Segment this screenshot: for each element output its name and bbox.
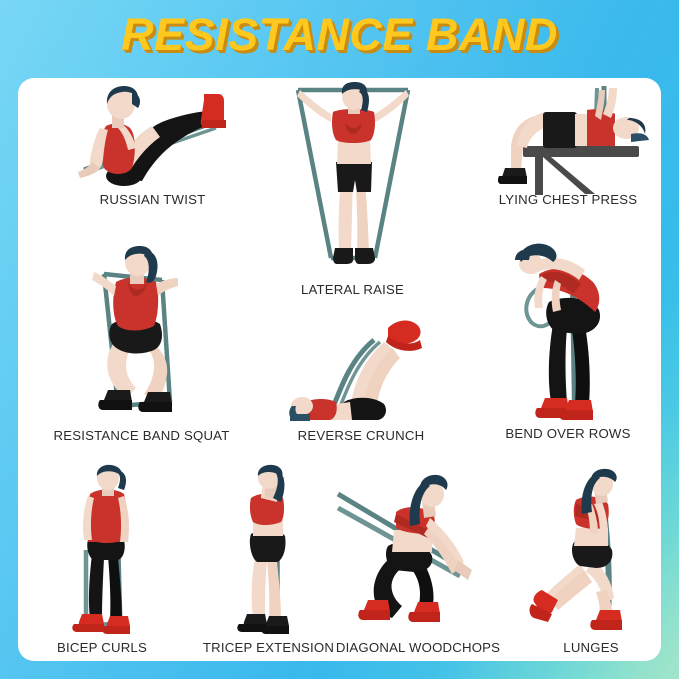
exercise-item-bend-over-rows[interactable]: BEND OVER ROWS <box>473 228 661 448</box>
exercise-item-lying-chest-press[interactable]: LYING CHEST PRESS <box>473 82 661 217</box>
exercise-item-diagonal-woodchops[interactable]: DIAGONAL WOODCHOPS <box>318 468 518 653</box>
exercise-item-reverse-crunch[interactable]: REVERSE CRUNCH <box>266 318 456 448</box>
poster-root: RESISTANCE BAND <box>0 0 679 679</box>
tricep-extension-illustration <box>233 468 313 633</box>
exercise-label-lateral-raise: LATERAL RAISE <box>255 282 450 297</box>
exercise-item-bicep-curls[interactable]: BICEP CURLS <box>22 468 182 653</box>
exercise-label-russian-twist: RUSSIAN TWIST <box>60 192 245 207</box>
exercise-card: RUSSIAN TWIST <box>18 78 661 661</box>
russian-twist-illustration <box>76 82 236 187</box>
exercise-label-lying-chest-press: LYING CHEST PRESS <box>473 192 661 207</box>
lunges-illustration <box>528 472 661 632</box>
exercise-label-reverse-crunch: REVERSE CRUNCH <box>266 428 456 443</box>
exercise-item-lateral-raise[interactable]: LATERAL RAISE <box>255 82 450 312</box>
lateral-raise-illustration <box>291 82 415 272</box>
exercise-item-russian-twist[interactable]: RUSSIAN TWIST <box>60 82 245 217</box>
page-title: RESISTANCE BAND <box>0 9 679 61</box>
lying-chest-press-illustration <box>491 84 651 189</box>
bend-over-rows-illustration <box>509 228 629 423</box>
exercise-item-resistance-band-squat[interactable]: RESISTANCE BAND SQUAT <box>34 246 249 446</box>
diagonal-woodchops-illustration <box>336 472 501 632</box>
exercise-label-resistance-band-squat: RESISTANCE BAND SQUAT <box>34 428 249 443</box>
exercise-label-bend-over-rows: BEND OVER ROWS <box>473 426 661 441</box>
exercise-label-diagonal-woodchops: DIAGONAL WOODCHOPS <box>318 640 518 655</box>
exercise-label-bicep-curls: BICEP CURLS <box>22 640 182 655</box>
reverse-crunch-illustration <box>288 318 438 423</box>
bicep-curls-illustration <box>66 468 146 633</box>
exercise-item-lunges[interactable]: LUNGES <box>516 468 661 653</box>
exercise-label-lunges: LUNGES <box>516 640 661 655</box>
resistance-band-squat-illustration <box>84 246 204 421</box>
